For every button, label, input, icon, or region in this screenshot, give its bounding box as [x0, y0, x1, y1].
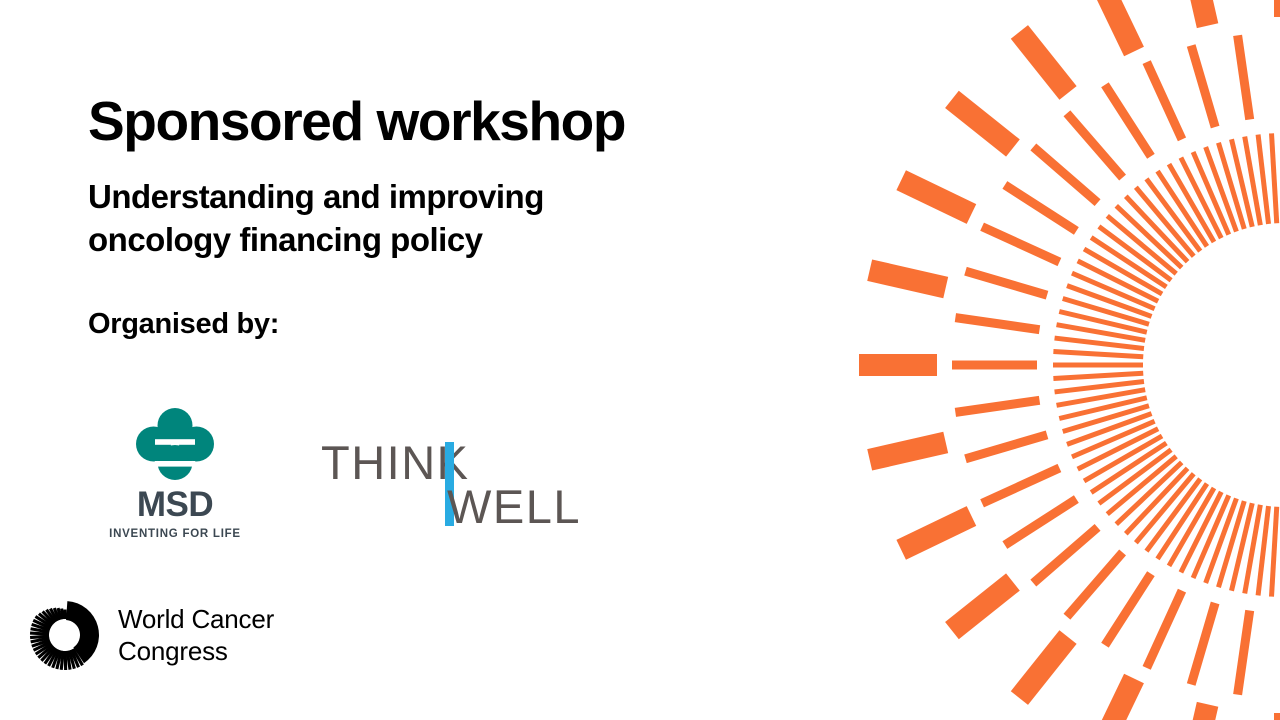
slide-canvas: Sponsored workshop Understanding and imp… — [0, 0, 1280, 720]
thinkwell-word-well: WELL — [447, 483, 581, 530]
organiser-logo-row: MSD INVENTING FOR LIFE THINK WELL — [95, 408, 589, 541]
msd-wordmark: MSD — [137, 487, 213, 522]
thinkwell-logo: THINK WELL — [321, 439, 589, 539]
text-block: Sponsored workshop Understanding and imp… — [88, 92, 788, 341]
page-title: Sponsored workshop — [88, 92, 788, 150]
msd-tagline: INVENTING FOR LIFE — [109, 529, 241, 541]
world-cancer-congress-logo: World Cancer Congress — [28, 598, 274, 672]
world-cancer-congress-name: World Cancer Congress — [118, 603, 274, 667]
msd-cloverleaf-icon — [129, 408, 221, 480]
organised-by-label: Organised by: — [88, 262, 788, 341]
msd-logo: MSD INVENTING FOR LIFE — [95, 408, 255, 541]
world-cancer-congress-burst-icon — [28, 598, 102, 672]
page-subtitle: Understanding and improving oncology fin… — [88, 150, 688, 262]
